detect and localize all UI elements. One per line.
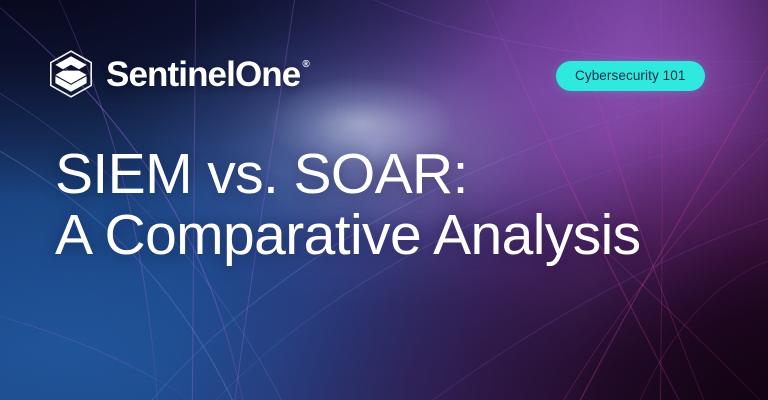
category-badge-label: Cybersecurity 101 (575, 69, 686, 83)
sentinelone-wordmark-text: SentinelOne (106, 57, 300, 92)
registered-trademark-mark: ® (302, 60, 309, 70)
category-badge[interactable]: Cybersecurity 101 (556, 61, 705, 91)
page-title: SIEM vs. SOAR: A Comparative Analysis (55, 144, 641, 266)
sentinelone-hexagon-s-icon (49, 50, 93, 98)
hero-banner: SentinelOne ® Cybersecurity 101 SIEM vs.… (0, 0, 768, 400)
headline-line-2: A Comparative Analysis (55, 205, 641, 266)
sentinelone-wordmark: SentinelOne ® (106, 57, 310, 92)
sentinelone-logo-lockup[interactable]: SentinelOne ® (49, 50, 310, 98)
headline-line-1: SIEM vs. SOAR: (55, 144, 641, 205)
